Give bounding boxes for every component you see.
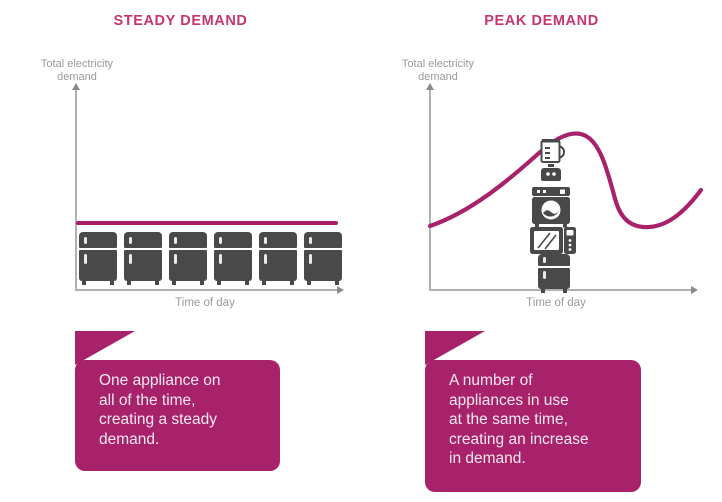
callout-text-peak: A number of appliances in use at the sam… xyxy=(449,371,644,469)
fridge-icon xyxy=(124,232,162,284)
y-axis-arrow-icon-steady xyxy=(72,83,80,90)
blender-icon xyxy=(533,138,569,186)
callout-text-steady: One appliance on all of the time, creati… xyxy=(99,371,279,449)
fridge-icon xyxy=(538,254,570,290)
callout-body-peak xyxy=(425,360,641,492)
fridge-icon xyxy=(169,232,207,284)
steady-demand-line xyxy=(76,221,338,225)
fridge-icon xyxy=(79,232,117,284)
panel-steady-demand: STEADY DEMAND Total electricity demand T… xyxy=(0,0,361,502)
x-axis-label-steady: Time of day xyxy=(120,297,290,309)
washing-machine-icon xyxy=(529,186,573,228)
microwave-icon xyxy=(529,226,577,256)
fridge-icon xyxy=(259,232,297,284)
x-axis-arrow-icon-steady xyxy=(337,286,344,294)
fridge-icon xyxy=(214,232,252,284)
x-axis-steady xyxy=(75,289,337,291)
panel-peak-demand: PEAK DEMAND Total electricity demand xyxy=(361,0,722,502)
y-axis-label-steady: Total electricity demand xyxy=(22,58,132,84)
page-title-steady: STEADY DEMAND xyxy=(0,13,361,29)
y-axis-steady xyxy=(75,90,77,290)
x-axis-label-peak: Time of day xyxy=(471,297,641,309)
callout-tail-peak xyxy=(425,331,485,365)
callout-tail-steady xyxy=(75,331,135,365)
fridge-icon xyxy=(304,232,342,284)
callout-body-steady xyxy=(75,360,280,471)
